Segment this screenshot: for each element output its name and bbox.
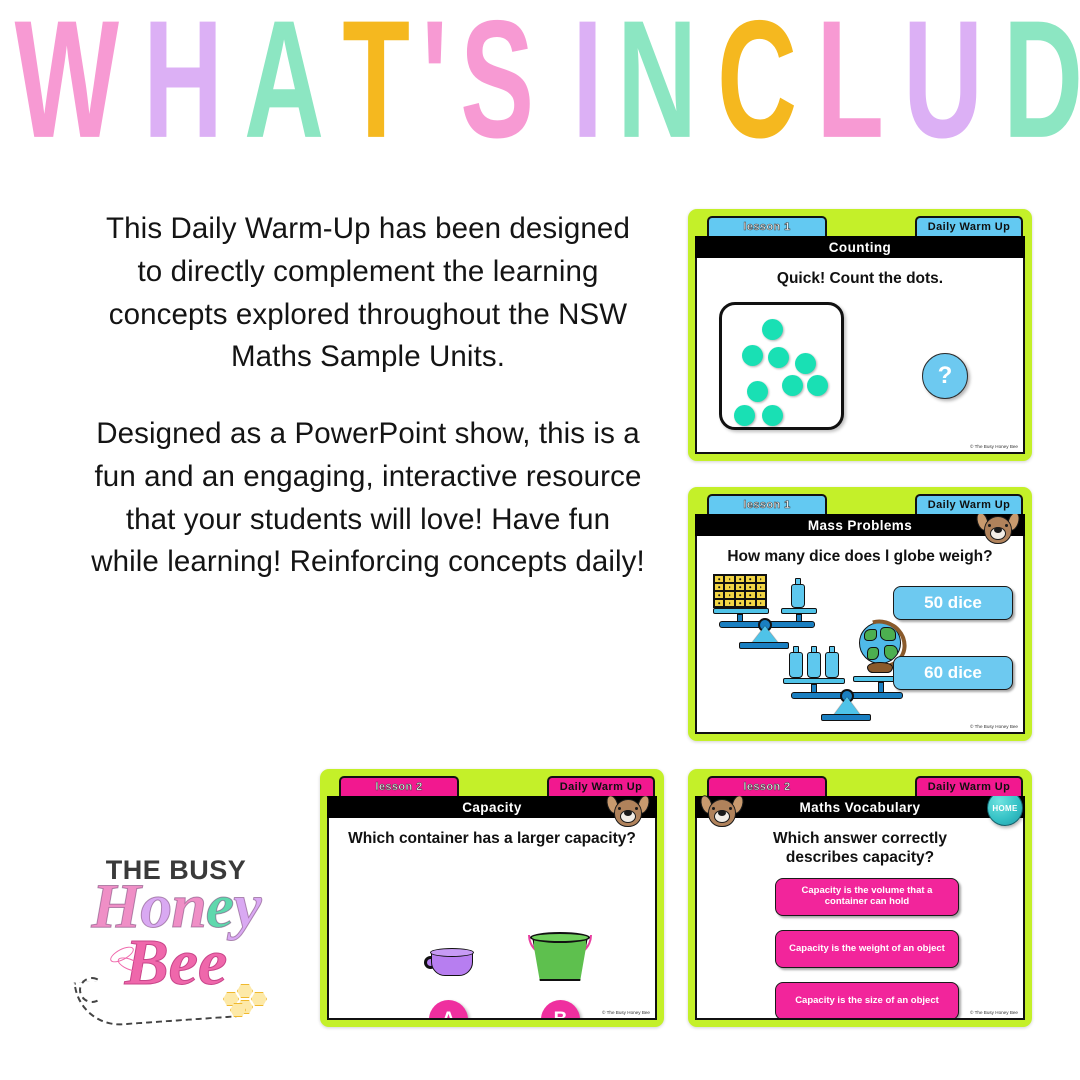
slide-preview-counting[interactable]: lesson 1 Daily Warm Up Counting Quick! C… bbox=[688, 209, 1032, 461]
slide-title-bar: Counting bbox=[695, 236, 1025, 258]
title-letter-3: T bbox=[342, 0, 408, 164]
tab-row: lesson 1 Daily Warm Up bbox=[695, 494, 1025, 514]
title-letter-0: W bbox=[15, 0, 118, 164]
lesson-tab[interactable]: lesson 2 bbox=[707, 776, 827, 796]
bottle-icon bbox=[789, 646, 803, 678]
answer-reveal-button[interactable]: ? bbox=[922, 353, 968, 399]
cup-icon bbox=[425, 946, 481, 982]
slide-title-bar: Mass Problems bbox=[695, 514, 1025, 536]
kangaroo-mascot-icon bbox=[975, 512, 1021, 546]
title-letter-10: L bbox=[816, 0, 882, 164]
answer-option-1[interactable]: Capacity is the volume that a container … bbox=[775, 878, 959, 916]
bottle-icon bbox=[791, 578, 805, 608]
title-letter-4: ' bbox=[421, 0, 446, 164]
option-a-button[interactable]: A bbox=[429, 1000, 468, 1020]
tab-row: lesson 2 Daily Warm Up bbox=[695, 776, 1025, 796]
dot bbox=[747, 381, 768, 402]
slide-question: How many dice does l globe weigh? bbox=[697, 548, 1023, 567]
slide-preview-mass-problems[interactable]: lesson 1 Daily Warm Up Mass Problems How… bbox=[688, 487, 1032, 741]
dot-container bbox=[719, 302, 844, 430]
kangaroo-mascot-icon bbox=[699, 795, 745, 829]
answer-option-1[interactable]: 50 dice bbox=[893, 586, 1013, 620]
honeycomb-icon bbox=[223, 983, 269, 1017]
dot bbox=[762, 405, 783, 426]
slide-title: Counting bbox=[829, 240, 891, 255]
slide-question: Which container has a larger capacity? bbox=[329, 830, 655, 849]
bee-wings-icon bbox=[109, 945, 149, 979]
paragraph-1: This Daily Warm-Up has been designed to … bbox=[90, 208, 646, 379]
title-letter-2: A bbox=[244, 0, 322, 164]
lesson-tab[interactable]: lesson 1 bbox=[707, 216, 827, 236]
option-b-button[interactable]: B bbox=[541, 1000, 580, 1020]
title-letter-7: I bbox=[573, 0, 602, 164]
slide-title: Maths Vocabulary bbox=[800, 800, 921, 815]
title-letter-12: D bbox=[1003, 0, 1080, 164]
paragraph-2: Designed as a PowerPoint show, this is a… bbox=[90, 413, 646, 584]
slide-preview-capacity[interactable]: lesson 2 Daily Warm Up Capacity Which co… bbox=[320, 769, 664, 1027]
slide-body: Quick! Count the dots. ? © The Busy Hone… bbox=[695, 258, 1025, 454]
title-letter-9: C bbox=[717, 0, 795, 164]
bottle-icon bbox=[807, 646, 821, 678]
daily-warm-up-tab[interactable]: Daily Warm Up bbox=[915, 494, 1023, 514]
dot bbox=[742, 345, 763, 366]
credit-text: © The Busy Honey Bee bbox=[602, 1010, 650, 1015]
title-letter-5: S bbox=[460, 0, 532, 164]
kangaroo-mascot-icon bbox=[605, 795, 651, 829]
dice-block-icon bbox=[713, 574, 767, 608]
slide-body: How many dice does l globe weigh? bbox=[695, 536, 1025, 734]
brand-logo: THE BUSY Honey Bee bbox=[45, 795, 307, 1057]
slide-body: Which answer correctly describes capacit… bbox=[695, 818, 1025, 1020]
dot bbox=[734, 405, 755, 426]
dot bbox=[762, 319, 783, 340]
dot bbox=[768, 347, 789, 368]
slide-title: Capacity bbox=[462, 800, 521, 815]
dot bbox=[795, 353, 816, 374]
bottle-icon bbox=[825, 646, 839, 678]
slide-question: Which answer correctly describes capacit… bbox=[697, 830, 1023, 867]
lesson-tab[interactable]: lesson 1 bbox=[707, 494, 827, 514]
daily-warm-up-tab[interactable]: Daily Warm Up bbox=[915, 216, 1023, 236]
credit-text: © The Busy Honey Bee bbox=[970, 444, 1018, 449]
credit-text: © The Busy Honey Bee bbox=[970, 724, 1018, 729]
title-letter-11: U bbox=[903, 0, 981, 164]
tab-row: lesson 1 Daily Warm Up bbox=[695, 216, 1025, 236]
balance-scale-bottom bbox=[783, 646, 913, 728]
daily-warm-up-tab[interactable]: Daily Warm Up bbox=[915, 776, 1023, 796]
dot bbox=[807, 375, 828, 396]
balance-scale-top bbox=[713, 574, 823, 646]
answer-option-3[interactable]: Capacity is the size of an object bbox=[775, 982, 959, 1020]
title-letter-1: H bbox=[143, 0, 221, 164]
slide-title-bar: Maths Vocabulary HOME bbox=[695, 796, 1025, 818]
answer-option-2[interactable]: 60 dice bbox=[893, 656, 1013, 690]
dot bbox=[782, 375, 803, 396]
credit-text: © The Busy Honey Bee bbox=[970, 1010, 1018, 1015]
lesson-tab[interactable]: lesson 2 bbox=[339, 776, 459, 796]
slide-preview-maths-vocabulary[interactable]: lesson 2 Daily Warm Up Maths Vocabulary … bbox=[688, 769, 1032, 1027]
slide-question: Quick! Count the dots. bbox=[697, 270, 1023, 289]
page-title: WHAT'SINCLUDED bbox=[0, 22, 1080, 164]
title-letter-8: N bbox=[617, 0, 695, 164]
bucket-icon bbox=[527, 930, 595, 986]
slide-body: Which container has a larger capacity? A… bbox=[327, 818, 657, 1020]
daily-warm-up-tab[interactable]: Daily Warm Up bbox=[547, 776, 655, 796]
slide-title-bar: Capacity bbox=[327, 796, 657, 818]
answer-option-2[interactable]: Capacity is the weight of an object bbox=[775, 930, 959, 968]
description-text: This Daily Warm-Up has been designed to … bbox=[90, 208, 646, 584]
slide-title: Mass Problems bbox=[808, 518, 912, 533]
tab-row: lesson 2 Daily Warm Up bbox=[327, 776, 657, 796]
